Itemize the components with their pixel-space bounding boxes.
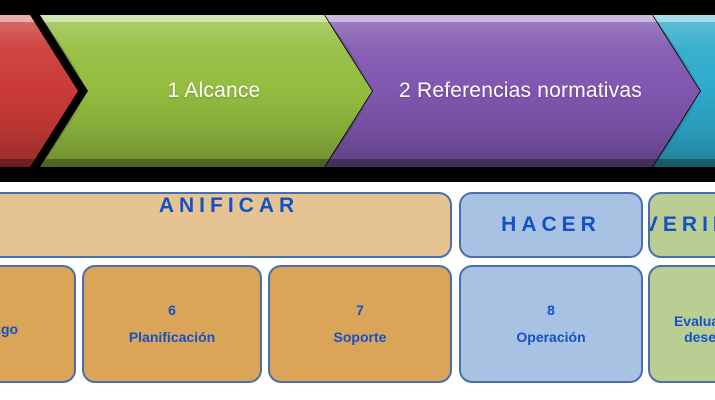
clause-operacion-number: 8	[547, 303, 555, 318]
bevel-shading	[325, 15, 700, 167]
clause-evaluacion-desempeno[interactable]: Evaluación del desempeño	[648, 265, 715, 383]
clause-evaluacion-name: Evaluación del desempeño	[650, 313, 715, 345]
bevel-shadow	[325, 159, 700, 167]
clause-planificacion[interactable]: 6 Planificación	[82, 265, 262, 383]
bevel-shadow	[653, 159, 715, 167]
clause-liderazgo-name: zgo	[0, 321, 22, 337]
slide-canvas: 1 Alcance 2 Referencias normativas ANIFI…	[0, 0, 715, 400]
clause-planificacion-name: Planificación	[125, 329, 219, 345]
phase-verificar[interactable]: VERIFICAR	[648, 192, 715, 258]
bevel-shadow	[40, 159, 372, 167]
phase-planificar[interactable]: ANIFICAR	[0, 192, 452, 258]
clause-soporte-name: Soporte	[330, 329, 391, 345]
pdca-grid: ANIFICAR HACER VERIFICAR zgo 6 Planifica…	[0, 182, 715, 400]
chevron-process-band: 1 Alcance 2 Referencias normativas	[0, 0, 715, 182]
clause-operacion[interactable]: 8 Operación	[459, 265, 643, 383]
clause-planificacion-number: 6	[168, 303, 176, 318]
phase-planificar-label: ANIFICAR	[159, 194, 299, 218]
phase-hacer[interactable]: HACER	[459, 192, 643, 258]
phase-hacer-label: HACER	[501, 213, 601, 237]
phase-verificar-label: VERIFICAR	[648, 213, 715, 237]
chevron-step-alcance[interactable]: 1 Alcance	[40, 15, 372, 167]
chevron-step-referencias[interactable]: 2 Referencias normativas	[325, 15, 700, 167]
clause-soporte[interactable]: 7 Soporte	[268, 265, 452, 383]
clause-liderazgo[interactable]: zgo	[0, 265, 76, 383]
clause-operacion-name: Operación	[512, 329, 589, 345]
clause-soporte-number: 7	[356, 303, 364, 318]
